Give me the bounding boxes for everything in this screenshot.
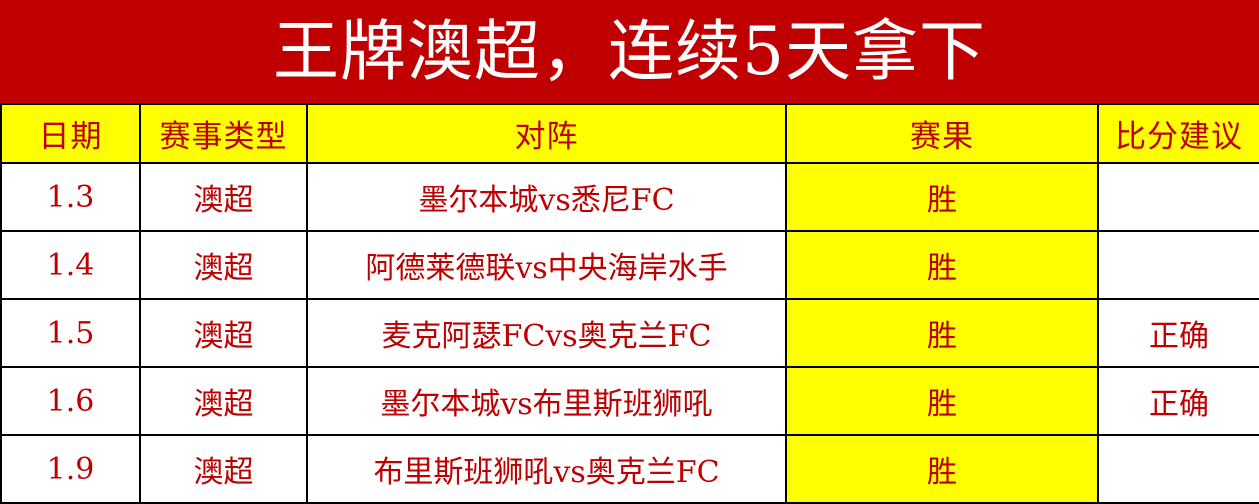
cell-date: 1.6	[1, 367, 140, 435]
cell-score	[1098, 163, 1259, 231]
cell-date: 1.4	[1, 231, 140, 299]
column-header-score: 比分建议	[1098, 104, 1259, 163]
table-row: 1.4 澳超 阿德莱德联vs中央海岸水手 胜	[1, 231, 1259, 299]
cell-result: 胜	[786, 367, 1098, 435]
table-row: 1.6 澳超 墨尔本城vs布里斯班狮吼 胜 正确	[1, 367, 1259, 435]
column-header-match: 对阵	[307, 104, 786, 163]
cell-type: 澳超	[140, 163, 307, 231]
cell-score: 正确	[1098, 299, 1259, 367]
cell-type: 澳超	[140, 231, 307, 299]
cell-score: 正确	[1098, 367, 1259, 435]
table-row: 1.3 澳超 墨尔本城vs悉尼FC 胜	[1, 163, 1259, 231]
cell-result: 胜	[786, 163, 1098, 231]
cell-result: 胜	[786, 299, 1098, 367]
table-row: 1.5 澳超 麦克阿瑟FCvs奥克兰FC 胜 正确	[1, 299, 1259, 367]
predictions-table: 日期 赛事类型 对阵 赛果 比分建议 1.3 澳超 墨尔本城vs悉尼FC 胜 1…	[0, 103, 1259, 504]
page-title: 王牌澳超，连续5天拿下	[273, 19, 986, 85]
cell-type: 澳超	[140, 435, 307, 503]
cell-score	[1098, 435, 1259, 503]
column-header-result: 赛果	[786, 104, 1098, 163]
table-body: 1.3 澳超 墨尔本城vs悉尼FC 胜 1.4 澳超 阿德莱德联vs中央海岸水手…	[1, 163, 1259, 503]
cell-match: 麦克阿瑟FCvs奥克兰FC	[307, 299, 786, 367]
column-header-type: 赛事类型	[140, 104, 307, 163]
cell-result: 胜	[786, 435, 1098, 503]
prediction-table-page: 王牌澳超，连续5天拿下 日期 赛事类型 对阵 赛果 比分建议 1.3 澳超 墨尔…	[0, 0, 1259, 491]
table-row: 1.9 澳超 布里斯班狮吼vs奥克兰FC 胜	[1, 435, 1259, 503]
cell-type: 澳超	[140, 367, 307, 435]
column-header-date: 日期	[1, 104, 140, 163]
cell-type: 澳超	[140, 299, 307, 367]
header-row: 日期 赛事类型 对阵 赛果 比分建议	[1, 104, 1259, 163]
cell-score	[1098, 231, 1259, 299]
cell-date: 1.3	[1, 163, 140, 231]
cell-match: 阿德莱德联vs中央海岸水手	[307, 231, 786, 299]
cell-match: 墨尔本城vs悉尼FC	[307, 163, 786, 231]
cell-date: 1.5	[1, 299, 140, 367]
cell-date: 1.9	[1, 435, 140, 503]
cell-match: 墨尔本城vs布里斯班狮吼	[307, 367, 786, 435]
cell-result: 胜	[786, 231, 1098, 299]
cell-match: 布里斯班狮吼vs奥克兰FC	[307, 435, 786, 503]
table-header: 日期 赛事类型 对阵 赛果 比分建议	[1, 104, 1259, 163]
title-banner: 王牌澳超，连续5天拿下	[0, 0, 1259, 103]
